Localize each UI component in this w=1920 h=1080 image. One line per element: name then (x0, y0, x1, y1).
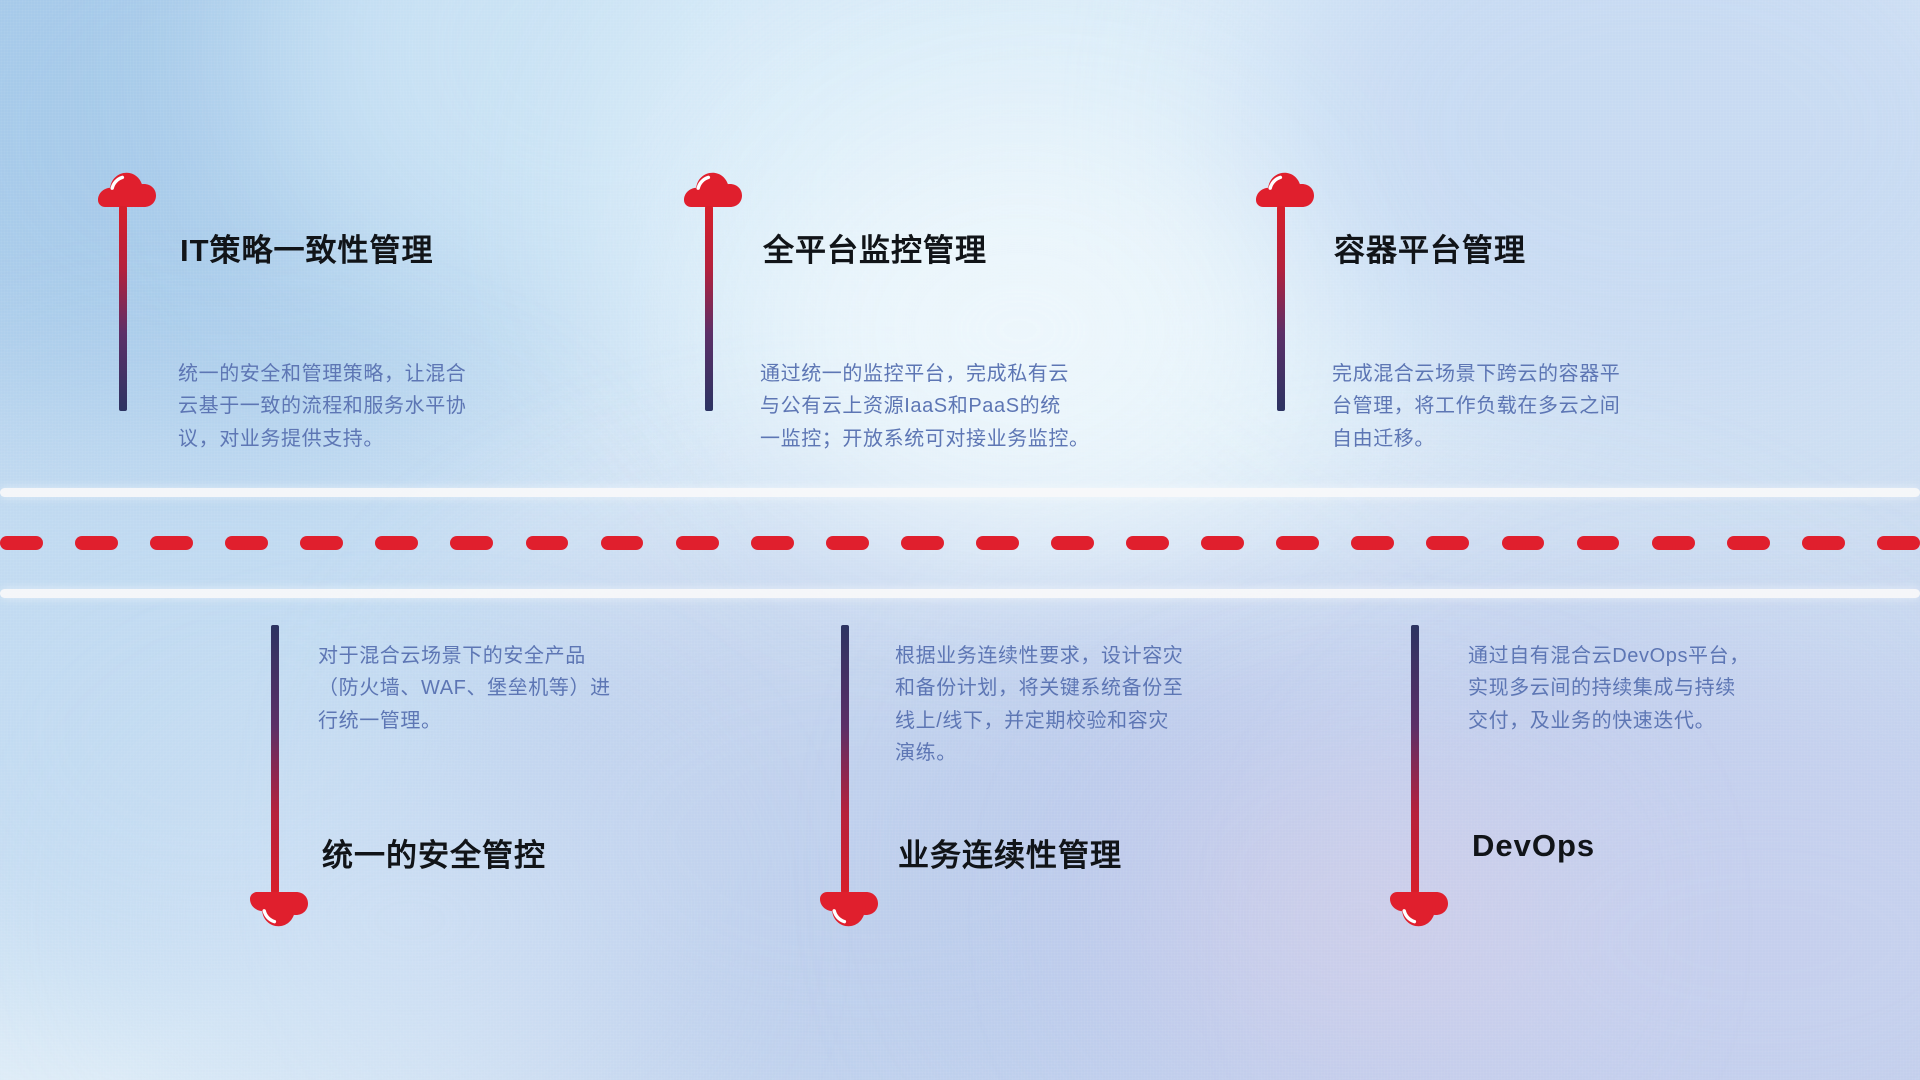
pin-stem (119, 206, 127, 411)
pin-stem (1277, 206, 1285, 411)
pin-stem (1411, 625, 1419, 893)
road-dash-segment (1351, 536, 1394, 550)
card-body: 通过自有混合云DevOps平台， 实现多云间的持续集成与持续 交付，及业务的快速… (1468, 640, 1888, 737)
road-dash-segment (225, 536, 268, 550)
road-dash-segment (1802, 536, 1845, 550)
card-heading: IT策略一致性管理 (180, 225, 434, 270)
road-dash-segment (601, 536, 644, 550)
road-dash-segment (1502, 536, 1545, 550)
card-heading: DevOps (1472, 828, 1595, 864)
road-dash-segment (901, 536, 944, 550)
pin-stem (705, 206, 713, 411)
infographic-canvas: IT策略一致性管理 统一的安全和管理策略，让混合 云基于一致的流程和服务水平协 … (0, 0, 1920, 1080)
road-dash-segment (1652, 536, 1695, 550)
road-edge-bottom-line (0, 589, 1920, 598)
card-body: 对于混合云场景下的安全产品 （防火墙、WAF、堡垒机等）进 行统一管理。 (318, 640, 748, 737)
cloud-icon (1254, 164, 1316, 208)
cloud-icon (818, 891, 880, 935)
road-dash-segment (1577, 536, 1620, 550)
road-dash-segment (1426, 536, 1469, 550)
cloud-icon (682, 164, 744, 208)
road-dash-segment (1051, 536, 1094, 550)
road-dash-segment (150, 536, 193, 550)
card-heading: 业务连续性管理 (898, 830, 1122, 875)
cloud-icon (248, 891, 310, 935)
pin-stem (841, 625, 849, 893)
road-dash-segment (75, 536, 118, 550)
road-dash-segment (1877, 536, 1920, 550)
card-heading: 全平台监控管理 (763, 225, 987, 270)
road-dash-segment (1201, 536, 1244, 550)
road-divider (0, 488, 1920, 598)
cloud-icon (96, 164, 158, 208)
card-body: 通过统一的监控平台，完成私有云 与公有云上资源IaaS和PaaS的统 一监控；开… (760, 358, 1210, 455)
road-dash-segment (526, 536, 569, 550)
road-dash-segment (375, 536, 418, 550)
road-dash-segment (1727, 536, 1770, 550)
card-body: 根据业务连续性要求，设计容灾 和备份计划，将关键系统备份至 线上/线下，并定期校… (895, 640, 1335, 770)
road-dash-segment (826, 536, 869, 550)
road-dash-segment (1276, 536, 1319, 550)
road-dash-segment (300, 536, 343, 550)
road-edge-top-line (0, 488, 1920, 497)
pin-stem (271, 625, 279, 893)
road-dash-segment (450, 536, 493, 550)
road-dash-segment (1126, 536, 1169, 550)
road-dash-segment (976, 536, 1019, 550)
road-dashed-center-line (0, 536, 1920, 550)
road-dash-segment (0, 536, 43, 550)
road-dash-segment (751, 536, 794, 550)
card-heading: 统一的安全管控 (322, 830, 546, 875)
road-dash-segment (676, 536, 719, 550)
card-body: 完成混合云场景下跨云的容器平 台管理，将工作负载在多云之间 自由迁移。 (1332, 358, 1762, 455)
card-heading: 容器平台管理 (1334, 225, 1526, 270)
card-body: 统一的安全和管理策略，让混合 云基于一致的流程和服务水平协 议，对业务提供支持。 (178, 358, 608, 455)
cloud-icon (1388, 891, 1450, 935)
